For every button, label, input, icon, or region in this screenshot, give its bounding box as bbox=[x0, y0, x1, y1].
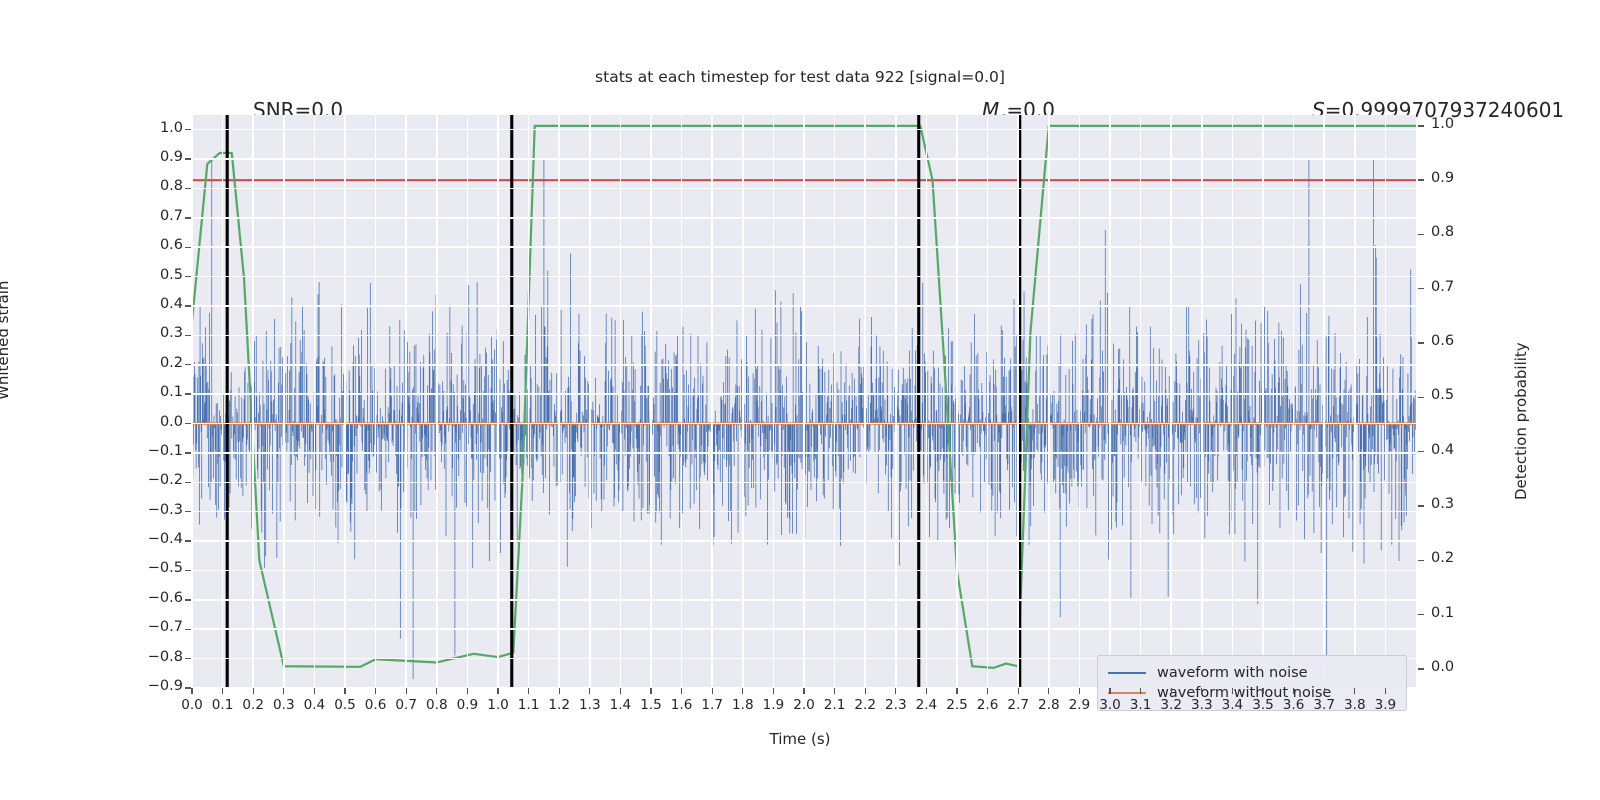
y-tick-label-left: −0.2 bbox=[103, 472, 183, 488]
x-tick bbox=[773, 688, 774, 694]
gridline-vertical bbox=[405, 115, 407, 688]
y-tick-right bbox=[1418, 451, 1424, 452]
gridline-vertical bbox=[528, 115, 530, 688]
y-tick-left bbox=[185, 658, 191, 659]
y-tick-left bbox=[185, 188, 191, 189]
y-axis-right-label: Detection probability bbox=[1512, 342, 1530, 500]
x-axis-label: Time (s) bbox=[0, 730, 1600, 748]
y-tick-right bbox=[1418, 668, 1424, 669]
gridline-horizontal bbox=[192, 364, 1416, 366]
x-tick bbox=[712, 688, 713, 694]
gridline-vertical bbox=[834, 115, 836, 688]
y-tick-label-left: −0.1 bbox=[103, 443, 183, 459]
y-tick-label-right: 0.3 bbox=[1431, 496, 1511, 512]
y-tick-left bbox=[185, 393, 191, 394]
gridline-vertical bbox=[314, 115, 316, 688]
x-tick bbox=[650, 688, 651, 694]
x-tick bbox=[467, 688, 468, 694]
legend-swatch-waveform-noise bbox=[1108, 672, 1146, 674]
y-tick-left bbox=[185, 276, 191, 277]
y-tick-label-left: 0.5 bbox=[103, 267, 183, 283]
y-tick-label-right: 0.6 bbox=[1431, 333, 1511, 349]
y-tick-label-left: 1.0 bbox=[103, 120, 183, 136]
y-tick-left bbox=[185, 511, 191, 512]
gridline-vertical bbox=[1385, 115, 1387, 688]
y-tick-label-right: 0.5 bbox=[1431, 387, 1511, 403]
y-tick-right bbox=[1418, 125, 1424, 126]
gridline-horizontal bbox=[192, 628, 1416, 630]
x-tick bbox=[1293, 688, 1294, 694]
y-tick-right bbox=[1418, 234, 1424, 235]
gridline-horizontal bbox=[192, 129, 1416, 131]
gridline-horizontal bbox=[192, 452, 1416, 454]
y-tick-right bbox=[1418, 342, 1424, 343]
x-tick bbox=[1232, 688, 1233, 694]
y-tick-right bbox=[1418, 288, 1424, 289]
y-tick-left bbox=[185, 129, 191, 130]
gridline-horizontal bbox=[192, 305, 1416, 307]
gridline-vertical bbox=[1109, 115, 1111, 688]
y-tick-label-left: 0.7 bbox=[103, 208, 183, 224]
y-tick-label-right: 0.8 bbox=[1431, 224, 1511, 240]
y-tick-left bbox=[185, 158, 191, 159]
x-tick bbox=[987, 688, 988, 694]
y-tick-left bbox=[185, 540, 191, 541]
gridline-horizontal bbox=[192, 599, 1416, 601]
gridline-vertical bbox=[1232, 115, 1234, 688]
y-tick-right bbox=[1418, 560, 1424, 561]
y-tick-label-right: 1.0 bbox=[1431, 116, 1511, 132]
x-tick bbox=[1262, 688, 1263, 694]
x-tick bbox=[1109, 688, 1110, 694]
plot-area bbox=[192, 115, 1416, 688]
x-tick bbox=[620, 688, 621, 694]
gridline-vertical bbox=[987, 115, 989, 688]
y-tick-left bbox=[185, 247, 191, 248]
gridline-vertical bbox=[436, 115, 438, 688]
y-tick-left bbox=[185, 629, 191, 630]
x-tick bbox=[528, 688, 529, 694]
gridline-vertical bbox=[1323, 115, 1325, 688]
x-tick bbox=[253, 688, 254, 694]
gridline-horizontal bbox=[192, 511, 1416, 513]
x-tick bbox=[375, 688, 376, 694]
x-tick bbox=[1385, 688, 1386, 694]
x-tick bbox=[1171, 688, 1172, 694]
x-tick bbox=[191, 688, 192, 694]
x-tick bbox=[497, 688, 498, 694]
gridline-horizontal bbox=[192, 217, 1416, 219]
y-tick-left bbox=[185, 217, 191, 218]
gridline-vertical bbox=[497, 115, 499, 688]
gridline-vertical bbox=[1354, 115, 1356, 688]
gridline-vertical bbox=[1262, 115, 1264, 688]
x-tick bbox=[895, 688, 896, 694]
y-tick-label-left: −0.7 bbox=[103, 619, 183, 635]
y-tick-label-right: 0.0 bbox=[1431, 659, 1511, 675]
gridline-horizontal bbox=[192, 423, 1416, 425]
y-tick-right bbox=[1418, 179, 1424, 180]
gridline-horizontal bbox=[192, 188, 1416, 190]
y-tick-label-right: 0.2 bbox=[1431, 550, 1511, 566]
y-axis-left-label: Whitened strain bbox=[0, 281, 12, 400]
legend-item: waveform with noise bbox=[1108, 663, 1396, 683]
gridline-vertical bbox=[192, 115, 193, 688]
y-tick-left bbox=[185, 452, 191, 453]
y-tick-label-left: −0.3 bbox=[103, 502, 183, 518]
y-tick-label-left: 0.3 bbox=[103, 325, 183, 341]
gridline-vertical bbox=[864, 115, 866, 688]
gridline-vertical bbox=[1048, 115, 1050, 688]
gridline-vertical bbox=[344, 115, 346, 688]
y-tick-left bbox=[185, 364, 191, 365]
x-tick bbox=[1140, 688, 1141, 694]
gridline-vertical bbox=[620, 115, 622, 688]
y-tick-label-left: −0.9 bbox=[103, 678, 183, 694]
x-tick bbox=[436, 688, 437, 694]
y-tick-label-left: 0.4 bbox=[103, 296, 183, 312]
gridline-vertical bbox=[252, 115, 254, 688]
y-tick-label-left: 0.6 bbox=[103, 237, 183, 253]
y-tick-left bbox=[185, 482, 191, 483]
x-tick bbox=[314, 688, 315, 694]
gridline-vertical bbox=[1201, 115, 1203, 688]
y-tick-left bbox=[185, 305, 191, 306]
gridline-vertical bbox=[1293, 115, 1295, 688]
x-tick bbox=[1048, 688, 1049, 694]
gridline-vertical bbox=[956, 115, 958, 688]
gridline-vertical bbox=[1017, 115, 1019, 688]
y-tick-label-right: 0.4 bbox=[1431, 442, 1511, 458]
y-tick-label-left: −0.6 bbox=[103, 590, 183, 606]
x-tick bbox=[1018, 688, 1019, 694]
gridline-vertical bbox=[1140, 115, 1142, 688]
x-tick-label: 3.9 bbox=[1355, 697, 1415, 713]
x-tick bbox=[926, 688, 927, 694]
x-tick bbox=[406, 688, 407, 694]
gridline-vertical bbox=[222, 115, 224, 688]
y-tick-label-right: 0.9 bbox=[1431, 170, 1511, 186]
x-tick bbox=[742, 688, 743, 694]
x-tick bbox=[803, 688, 804, 694]
y-tick-label-left: −0.8 bbox=[103, 649, 183, 665]
y-tick-left bbox=[185, 687, 191, 688]
gridline-horizontal bbox=[192, 570, 1416, 572]
x-tick bbox=[1079, 688, 1080, 694]
x-tick bbox=[834, 688, 835, 694]
x-tick bbox=[1354, 688, 1355, 694]
x-tick bbox=[956, 688, 957, 694]
y-tick-label-left: 0.2 bbox=[103, 355, 183, 371]
figure-canvas: stats at each timestep for test data 922… bbox=[0, 0, 1600, 800]
y-tick-right bbox=[1418, 614, 1424, 615]
gridline-horizontal bbox=[192, 393, 1416, 395]
y-tick-label-left: −0.4 bbox=[103, 531, 183, 547]
gridline-vertical bbox=[558, 115, 560, 688]
gridline-horizontal bbox=[192, 540, 1416, 542]
gridline-vertical bbox=[589, 115, 591, 688]
y-tick-left bbox=[185, 599, 191, 600]
gridline-vertical bbox=[1170, 115, 1172, 688]
gridline-vertical bbox=[895, 115, 897, 688]
y-tick-label-left: 0.8 bbox=[103, 178, 183, 194]
x-tick bbox=[1201, 688, 1202, 694]
x-tick bbox=[283, 688, 284, 694]
gridline-vertical bbox=[711, 115, 713, 688]
gridline-horizontal bbox=[192, 246, 1416, 248]
gridline-vertical bbox=[926, 115, 928, 688]
x-tick bbox=[865, 688, 866, 694]
gridline-vertical bbox=[742, 115, 744, 688]
page-title: stats at each timestep for test data 922… bbox=[0, 68, 1600, 86]
y-tick-label-left: 0.1 bbox=[103, 384, 183, 400]
y-tick-label-right: 0.7 bbox=[1431, 279, 1511, 295]
y-tick-label-left: 0.9 bbox=[103, 149, 183, 165]
gridline-horizontal bbox=[192, 482, 1416, 484]
x-tick bbox=[344, 688, 345, 694]
gridline-vertical bbox=[283, 115, 285, 688]
x-tick bbox=[589, 688, 590, 694]
y-tick-label-left: 0.0 bbox=[103, 414, 183, 430]
gridline-vertical bbox=[1079, 115, 1081, 688]
legend-label: waveform with noise bbox=[1157, 665, 1308, 681]
gridline-vertical bbox=[650, 115, 652, 688]
gridline-horizontal bbox=[192, 276, 1416, 278]
y-tick-label-right: 0.1 bbox=[1431, 605, 1511, 621]
gridline-vertical bbox=[375, 115, 377, 688]
gridline-vertical bbox=[803, 115, 805, 688]
y-tick-left bbox=[185, 423, 191, 424]
x-tick bbox=[1324, 688, 1325, 694]
y-tick-right bbox=[1418, 505, 1424, 506]
gridline-horizontal bbox=[192, 335, 1416, 337]
y-tick-label-left: −0.5 bbox=[103, 560, 183, 576]
y-tick-left bbox=[185, 335, 191, 336]
y-tick-right bbox=[1418, 397, 1424, 398]
gridline-vertical bbox=[467, 115, 469, 688]
gridline-vertical bbox=[773, 115, 775, 688]
x-tick bbox=[222, 688, 223, 694]
x-tick bbox=[681, 688, 682, 694]
y-tick-left bbox=[185, 570, 191, 571]
gridline-horizontal bbox=[192, 158, 1416, 160]
gridline-vertical bbox=[681, 115, 683, 688]
x-tick bbox=[559, 688, 560, 694]
